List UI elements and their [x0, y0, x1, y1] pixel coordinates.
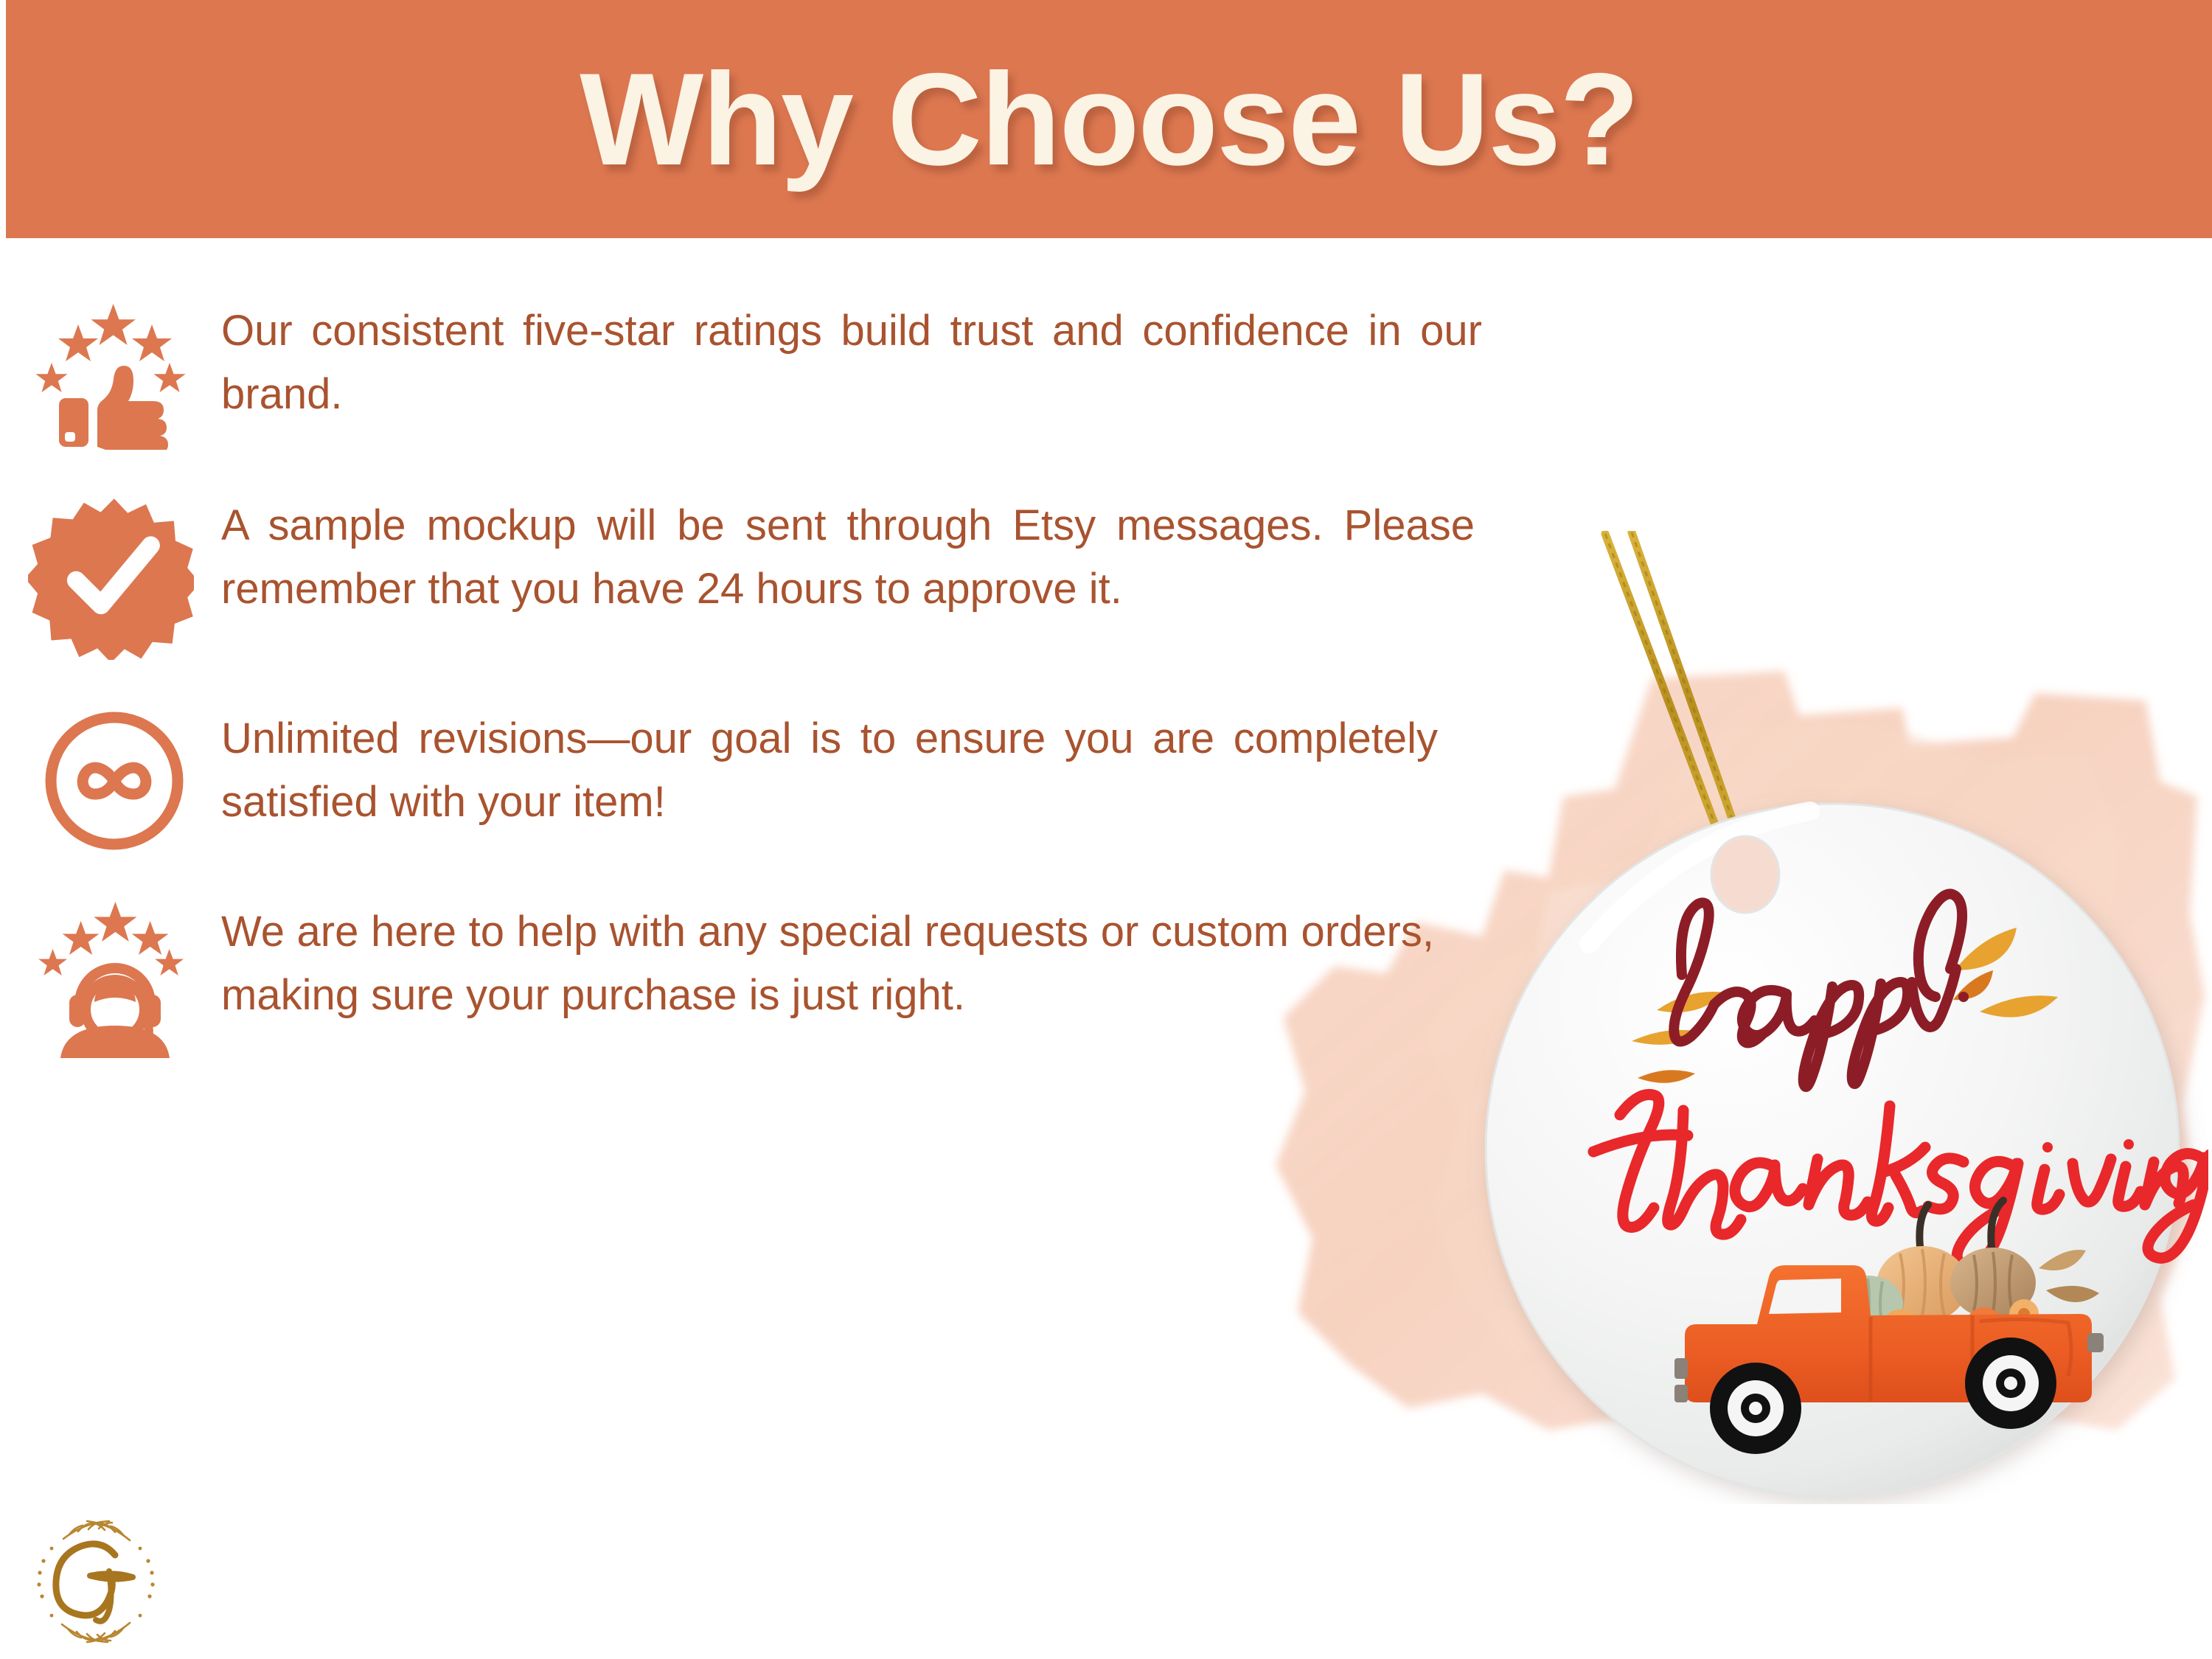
- feature-text: Our consistent five-star ratings build t…: [221, 295, 1519, 426]
- infinity-circle-icon: [0, 703, 221, 855]
- feature-item: Our consistent five-star ratings build t…: [0, 295, 1519, 450]
- feature-text: We are here to help with any special req…: [221, 896, 1519, 1027]
- feature-item: A sample mockup will be sent through Ets…: [0, 490, 1519, 660]
- feature-item: Unlimited revisions—our goal is to ensur…: [0, 703, 1519, 855]
- greeting-dot: [1958, 992, 1969, 1002]
- product-ornament-image: [1464, 531, 2208, 1504]
- feature-text: A sample mockup will be sent through Ets…: [221, 490, 1519, 621]
- brand-logo: [22, 1508, 170, 1655]
- feature-item: We are here to help with any special req…: [0, 896, 1519, 1059]
- support-agent-stars-icon: [0, 896, 221, 1059]
- page-title: Why Choose Us?: [580, 54, 1638, 185]
- five-star-thumbs-up-icon: [0, 295, 221, 450]
- page-header-band: Why Choose Us?: [6, 0, 2212, 238]
- verified-check-badge-icon: [0, 490, 221, 660]
- feature-list: Our consistent five-star ratings build t…: [0, 295, 1519, 1093]
- feature-text: Unlimited revisions—our goal is to ensur…: [221, 703, 1519, 834]
